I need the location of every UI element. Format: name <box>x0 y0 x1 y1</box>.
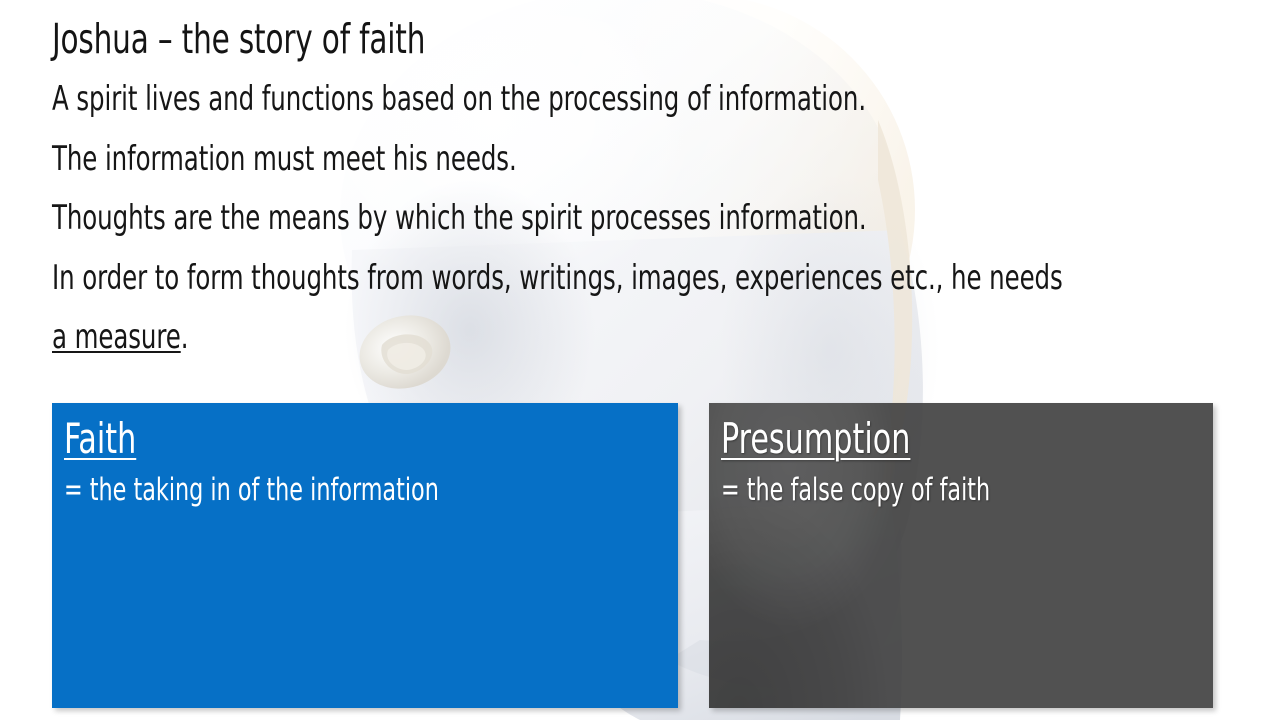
faith-card-title: Faith <box>64 417 136 461</box>
presentation-slide: Joshua – the story of faith A spirit liv… <box>0 0 1280 720</box>
slide-text-block: Joshua – the story of faith A spirit liv… <box>52 14 1232 368</box>
faith-card[interactable]: Faith = the taking in of the information <box>52 403 678 708</box>
body-line-2: The information must meet his needs. <box>52 130 996 190</box>
presumption-card-subtitle: = the false copy of faith <box>721 473 1115 509</box>
faith-card-subtitle: = the taking in of the information <box>64 473 555 509</box>
body-line-1: A spirit lives and functions based on th… <box>52 70 996 130</box>
emphasis-a-measure: a measure <box>52 317 181 357</box>
body-line-4-lead: In order to form thoughts from words, wr… <box>52 249 996 309</box>
presumption-card-title: Presumption <box>721 417 910 461</box>
body-line-3: Thoughts are the means by which the spir… <box>52 189 996 249</box>
presumption-card-content: Presumption = the false copy of faith <box>709 403 1213 509</box>
presumption-card[interactable]: Presumption = the false copy of faith <box>709 403 1213 708</box>
page-title: Joshua – the story of faith <box>52 14 996 64</box>
faith-card-content: Faith = the taking in of the information <box>52 403 678 509</box>
body-line-4-continuation: a measure. <box>52 308 996 368</box>
emphasis-tail: . <box>181 317 189 357</box>
